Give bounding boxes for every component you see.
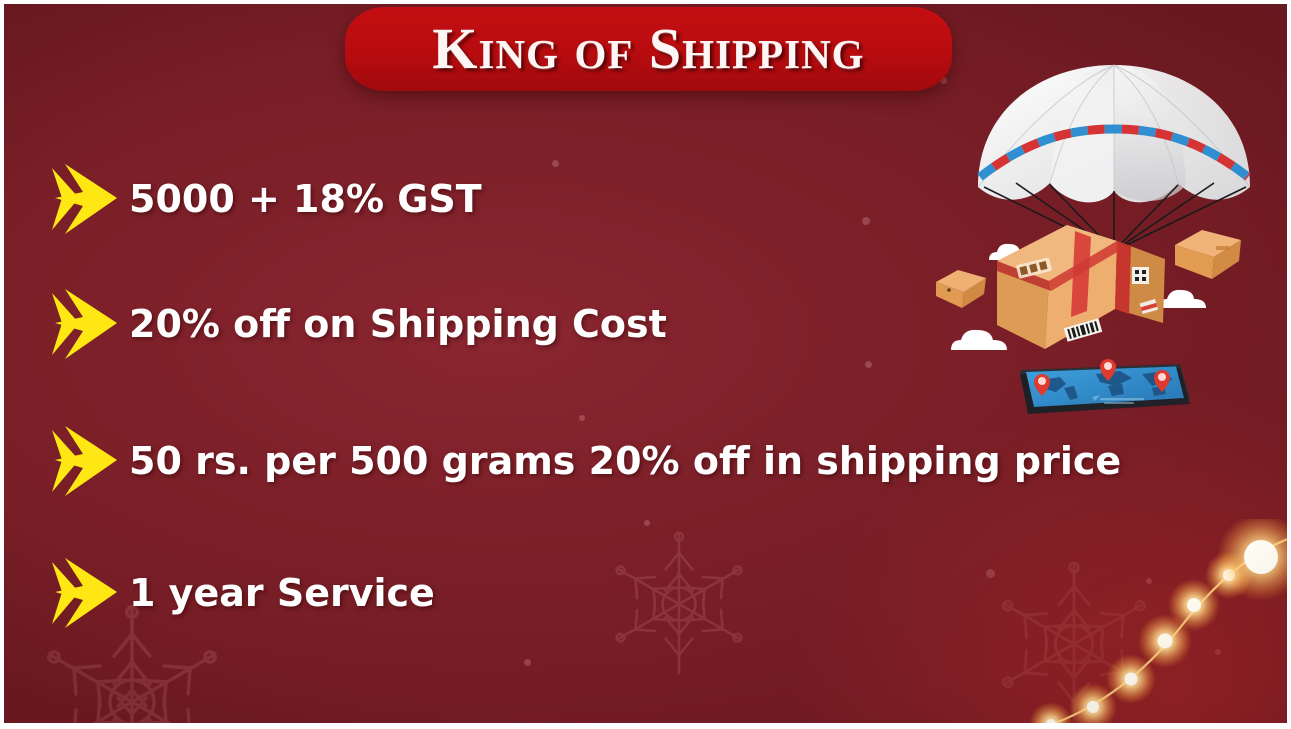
list-item-label: 50 rs. per 500 grams 20% off in shipping…	[129, 442, 1121, 480]
promotional-banner: King of Shipping 5000 + 18% GST 20% off …	[0, 0, 1291, 729]
list-item-label: 5000 + 18% GST	[129, 180, 482, 218]
list-item: 50 rs. per 500 grams 20% off in shipping…	[49, 429, 1121, 493]
list-item-label: 1 year Service	[129, 574, 435, 612]
list-item: 20% off on Shipping Cost	[49, 292, 667, 356]
list-item: 1 year Service	[49, 561, 435, 625]
double-chevron-arrow-icon	[49, 287, 119, 361]
double-chevron-arrow-icon	[49, 162, 119, 236]
list-item: 5000 + 18% GST	[49, 167, 482, 231]
list-item-label: 20% off on Shipping Cost	[129, 305, 667, 343]
title-plate: King of Shipping	[345, 7, 952, 91]
double-chevron-arrow-icon	[49, 424, 119, 498]
page-title: King of Shipping	[432, 20, 864, 78]
double-chevron-arrow-icon	[49, 556, 119, 630]
